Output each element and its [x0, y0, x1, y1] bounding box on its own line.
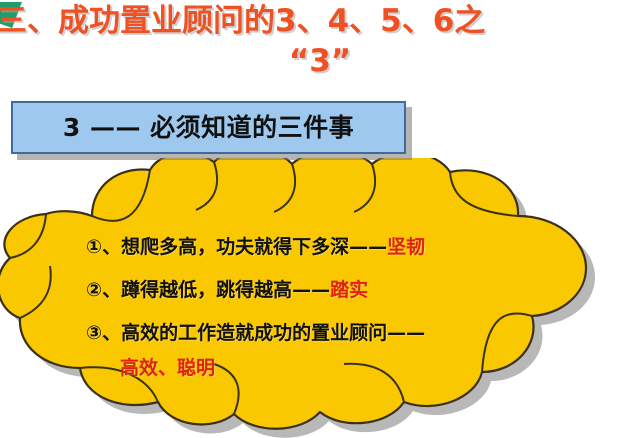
list-item: ②、蹲得越低，跳得越高——踏实 — [86, 269, 586, 312]
slide-canvas: 三、成功置业顾问的3、4、5、6之 “3” 3 —— 必须知道的三件事 — [0, 0, 640, 438]
list-item-highlight: 踏实 — [330, 279, 368, 301]
subtitle-banner-label: 3 —— 必须知道的三件事 — [63, 114, 354, 142]
list-item-marker: ②、 — [86, 269, 121, 312]
list-item-text: 想爬多高，功夫就得下多深—— — [121, 236, 387, 258]
page-title-line-1: 三、成功置业顾问的3、4、5、6之 — [0, 0, 640, 42]
list-item-highlight: 高效、聪明 — [120, 357, 215, 379]
list-item-marker: ③、 — [86, 312, 121, 355]
cloud-text-block: ①、想爬多高，功夫就得下多深——坚韧 ②、蹲得越低，跳得越高——踏实 ③、高效的… — [86, 226, 586, 390]
list-item-text: 高效的工作造就成功的置业顾问—— — [121, 322, 425, 344]
list-item-marker: ①、 — [86, 226, 121, 269]
page-title-line-2: “3” — [0, 40, 640, 82]
list-item-text: 蹲得越低，跳得越高—— — [121, 279, 330, 301]
list-item-highlight: 坚韧 — [387, 236, 425, 258]
list-item: ①、想爬多高，功夫就得下多深——坚韧 — [86, 226, 586, 269]
page-title: 三、成功置业顾问的3、4、5、6之 “3” — [0, 0, 640, 82]
subtitle-banner: 3 —— 必须知道的三件事 — [11, 101, 406, 154]
